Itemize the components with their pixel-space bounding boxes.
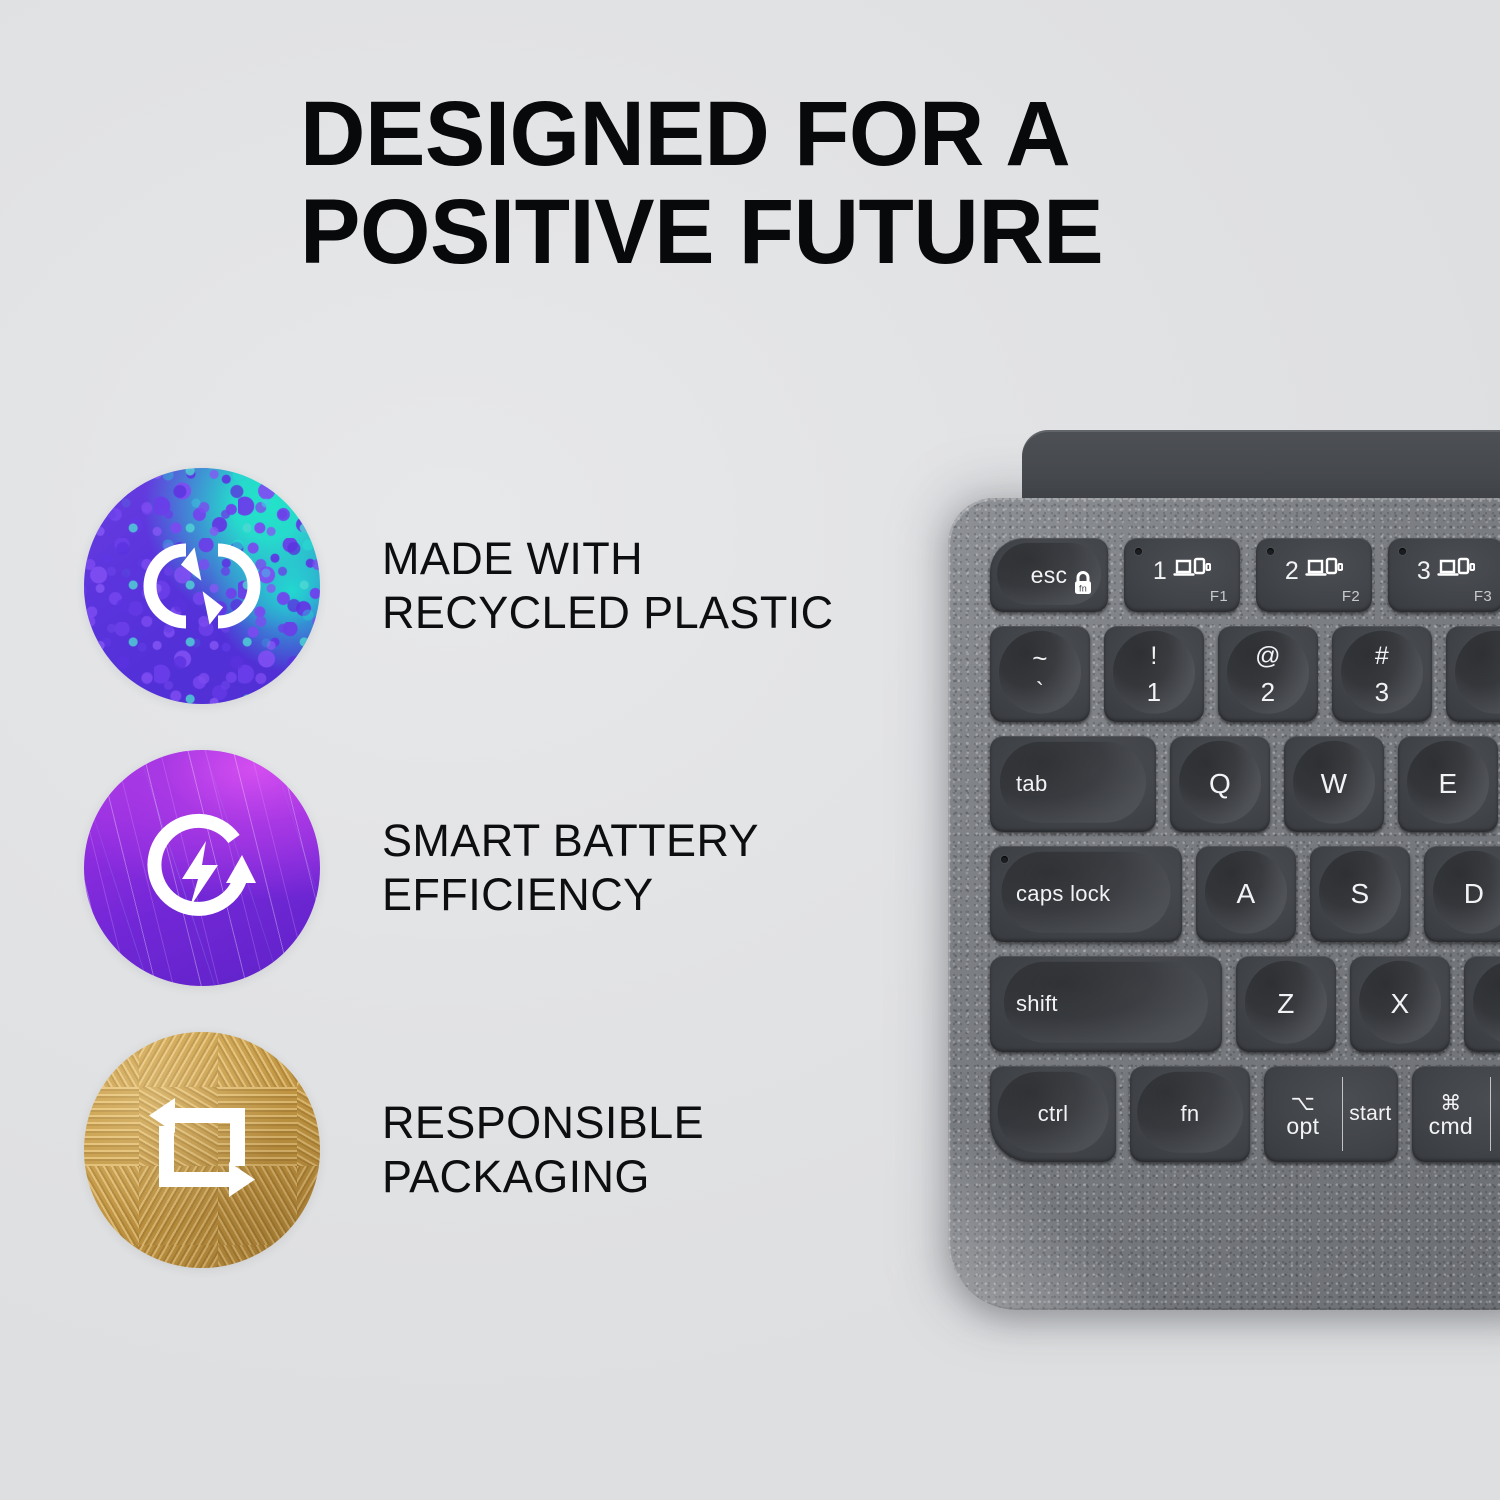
key-f3[interactable]: 3 F3 bbox=[1388, 538, 1500, 612]
key-tab[interactable]: tab bbox=[990, 736, 1156, 832]
key-s[interactable]: S bbox=[1310, 846, 1410, 942]
easy-switch-icon bbox=[1173, 556, 1211, 586]
key-fn[interactable]: fn bbox=[1130, 1066, 1250, 1162]
feature-list: MADE WITH RECYCLED PLASTIC SMART BATTERY… bbox=[84, 468, 904, 1268]
key-3[interactable]: # 3 bbox=[1332, 626, 1432, 722]
key-shift[interactable]: shift bbox=[990, 956, 1222, 1052]
key-4[interactable] bbox=[1446, 626, 1500, 722]
badge-responsible-packaging bbox=[84, 1032, 320, 1268]
key-w[interactable]: W bbox=[1284, 736, 1384, 832]
key-x[interactable]: X bbox=[1350, 956, 1450, 1052]
product-marketing-canvas: DESIGNED FOR A POSITIVE FUTURE bbox=[0, 0, 1500, 1500]
key-f2[interactable]: 2 F2 bbox=[1256, 538, 1372, 612]
key-d[interactable]: D bbox=[1424, 846, 1500, 942]
option-symbol: ⌥ bbox=[1291, 1093, 1316, 1114]
led-indicator-f1 bbox=[1135, 548, 1142, 555]
key-opt-start[interactable]: ⌥ opt start bbox=[1264, 1066, 1398, 1162]
feature-label-recycled-plastic: MADE WITH RECYCLED PLASTIC bbox=[382, 532, 834, 640]
page-title: DESIGNED FOR A POSITIVE FUTURE bbox=[300, 86, 1285, 281]
key-cmd-alt[interactable]: ⌘ cmd alt bbox=[1412, 1066, 1500, 1162]
feature-item-recycled-plastic: MADE WITH RECYCLED PLASTIC bbox=[84, 468, 904, 704]
led-indicator-f3 bbox=[1399, 548, 1406, 555]
key-2[interactable]: @ 2 bbox=[1218, 626, 1318, 722]
recycled-plastic-loop-icon bbox=[84, 468, 320, 704]
key-z[interactable]: Z bbox=[1236, 956, 1336, 1052]
packaging-loop-icon bbox=[84, 1032, 320, 1268]
led-indicator-f2 bbox=[1267, 548, 1274, 555]
led-indicator-caps-lock bbox=[1001, 856, 1008, 863]
feature-item-battery-efficiency: SMART BATTERY EFFICIENCY bbox=[84, 750, 904, 986]
key-ctrl[interactable]: ctrl bbox=[990, 1066, 1116, 1162]
feature-item-responsible-packaging: RESPONSIBLE PACKAGING bbox=[84, 1032, 904, 1268]
easy-switch-icon bbox=[1305, 556, 1343, 586]
svg-text:fn: fn bbox=[1079, 583, 1087, 593]
key-1[interactable]: ! 1 bbox=[1104, 626, 1204, 722]
easy-switch-icon bbox=[1437, 556, 1475, 586]
key-e[interactable]: E bbox=[1398, 736, 1498, 832]
fn-lock-icon: fn bbox=[1072, 570, 1094, 602]
keyboard-product-photo: esc fn 1 bbox=[930, 430, 1500, 1310]
battery-efficiency-bolt-icon bbox=[84, 750, 320, 986]
feature-label-responsible-packaging: RESPONSIBLE PACKAGING bbox=[382, 1096, 704, 1204]
key-a[interactable]: A bbox=[1196, 846, 1296, 942]
feature-label-battery-efficiency: SMART BATTERY EFFICIENCY bbox=[382, 814, 759, 922]
badge-battery-efficiency bbox=[84, 750, 320, 986]
key-f1[interactable]: 1 F1 bbox=[1124, 538, 1240, 612]
command-symbol: ⌘ bbox=[1440, 1093, 1461, 1114]
badge-recycled-plastic bbox=[84, 468, 320, 704]
key-caps-lock[interactable]: caps lock bbox=[990, 846, 1182, 942]
key-backtick[interactable]: ~ ` bbox=[990, 626, 1090, 722]
key-c[interactable] bbox=[1464, 956, 1500, 1052]
key-esc[interactable]: esc fn bbox=[990, 538, 1108, 612]
key-q[interactable]: Q bbox=[1170, 736, 1270, 832]
